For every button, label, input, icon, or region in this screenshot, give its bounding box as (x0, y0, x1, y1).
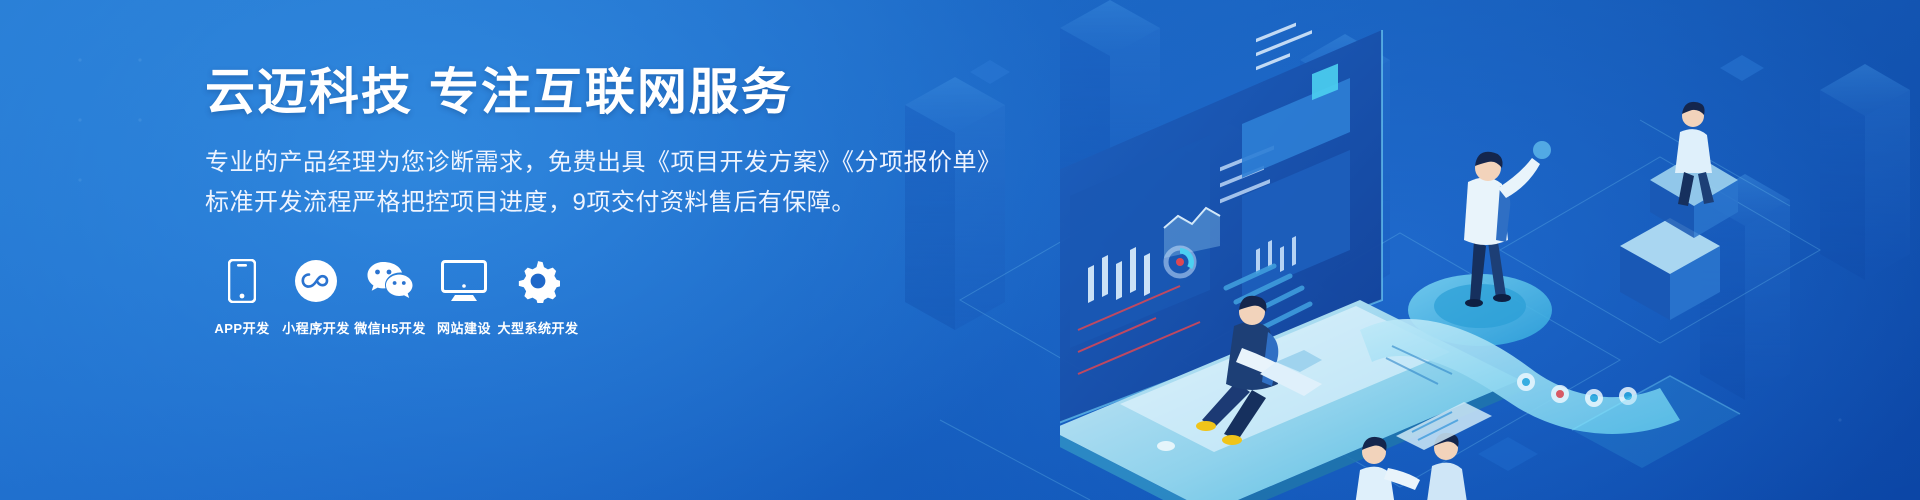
service-label-miniprogram: 小程序开发 (282, 318, 350, 337)
wechat-icon (366, 258, 414, 304)
hero-banner: 云迈科技 专注互联网服务 专业的产品经理为您诊断需求，免费出具《项目开发方案》《… (0, 0, 1920, 500)
service-item-wechat[interactable]: 微信H5开发 (353, 258, 427, 337)
subtitle-line-2: 标准开发流程严格把控项目进度，9项交付资料售后有保障。 (205, 184, 925, 222)
cube-stack (1620, 102, 1738, 320)
service-item-app[interactable]: APP开发 (205, 258, 279, 337)
service-list: APP开发 小程序开发 (205, 258, 925, 337)
illustration (1060, 0, 1920, 500)
service-label-app: APP开发 (214, 318, 269, 337)
mobile-phone-icon (228, 258, 256, 304)
page-title: 云迈科技 专注互联网服务 (205, 64, 925, 122)
mini-program-icon (294, 258, 338, 304)
service-label-wechat: 微信H5开发 (354, 318, 426, 337)
gear-icon (516, 258, 560, 304)
service-label-website: 网站建设 (437, 318, 491, 337)
subtitle-line-1: 专业的产品经理为您诊断需求，免费出具《项目开发方案》《分项报价单》 (205, 144, 925, 182)
person-presenter (1408, 141, 1552, 346)
service-label-system: 大型系统开发 (498, 318, 579, 337)
monitor-icon (441, 258, 487, 304)
service-item-website[interactable]: 网站建设 (427, 258, 501, 337)
banner-content: 云迈科技 专注互联网服务 专业的产品经理为您诊断需求，免费出具《项目开发方案》《… (205, 64, 925, 337)
service-item-system[interactable]: 大型系统开发 (501, 258, 575, 337)
service-item-miniprogram[interactable]: 小程序开发 (279, 258, 353, 337)
